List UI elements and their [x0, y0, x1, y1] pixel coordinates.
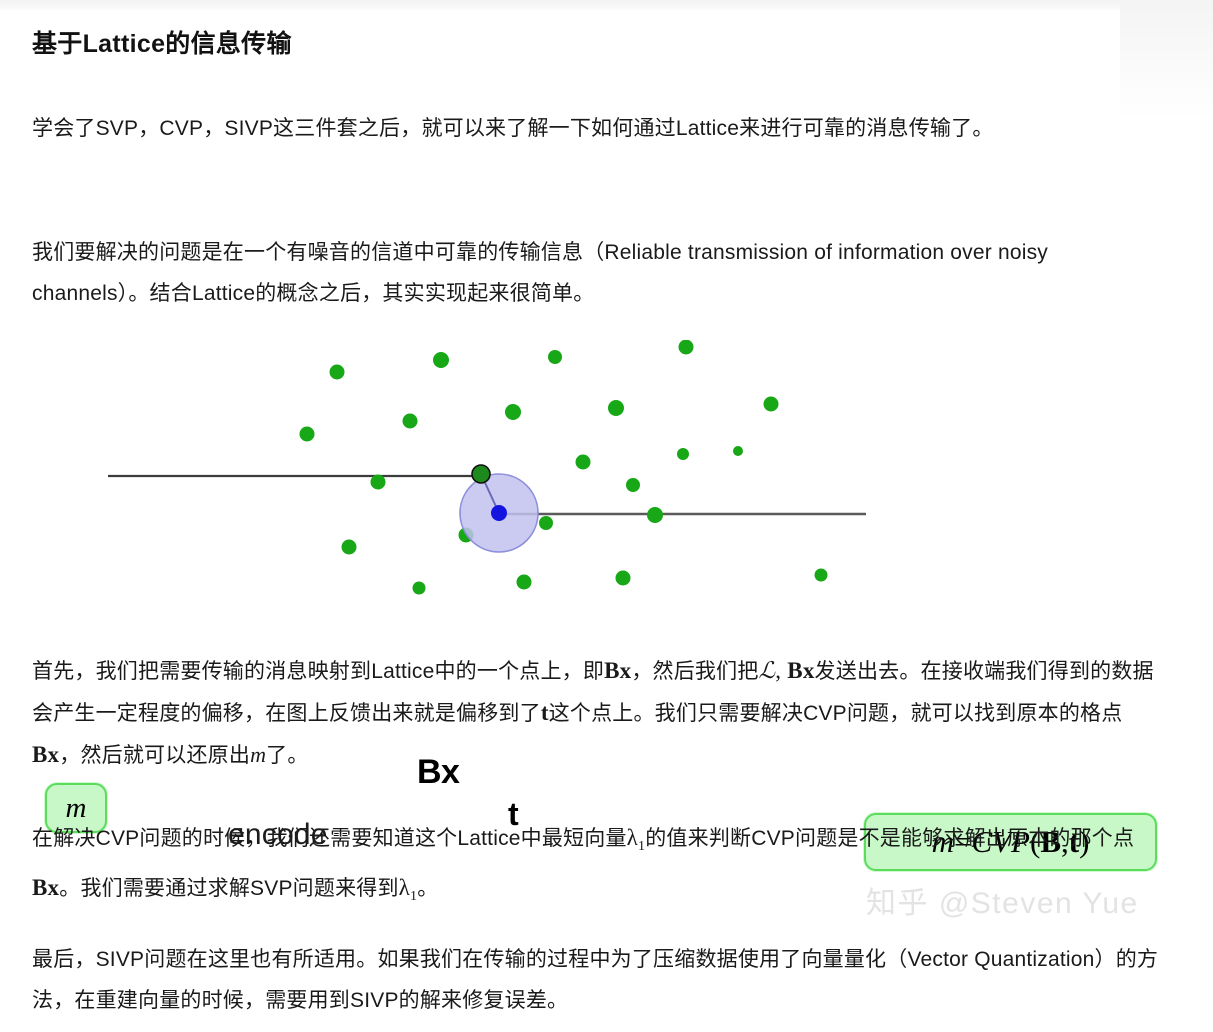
p3-seg-g: 了。 — [266, 744, 308, 767]
paragraph-sivp: 最后，SIVP问题在这里也有所适用。如果我们在传输的过程中为了压缩数据使用了向量… — [32, 939, 1162, 1021]
top-gray-band — [0, 0, 1213, 10]
paragraph-intro: 学会了SVP，CVP，SIVP这三件套之后，就可以来了解一下如何通过Lattic… — [32, 108, 1157, 149]
lattice-points-group — [300, 340, 828, 595]
p3-math-bx-2: Bx — [787, 658, 814, 683]
p4-seg-b: 的值来判断CVP问题是不是能够求解出原本的那个点 — [645, 827, 1134, 850]
p3-math-m: m — [250, 742, 266, 767]
p4-math-bx: Bx — [32, 875, 59, 900]
p3-seg-b: ，然后我们把 — [631, 660, 758, 683]
paragraph-problem: 我们要解决的问题是在一个有噪音的信道中可靠的传输信息（Reliable tran… — [32, 232, 1092, 314]
p3-math-bx-1: Bx — [604, 658, 631, 683]
p3-math-lattice-symbol: ℒ — [759, 658, 776, 683]
lattice-point-bx — [472, 465, 490, 483]
page-title: 基于Lattice的信息传输 — [32, 28, 1182, 62]
lattice-transmission-diagram: m m = CVP(B, t) Bx t encode 知乎 @Steven Y… — [0, 340, 1213, 625]
diagram-canvas — [0, 340, 1213, 625]
target-point-t — [491, 505, 507, 521]
p3-seg-f: ，然后就可以还原出 — [59, 744, 250, 767]
p4-math-lambda-1: λ — [627, 825, 638, 850]
p3-seg-a: 首先，我们把需要传输的消息映射到Lattice中的一个点上，即 — [32, 660, 604, 683]
article-page: 基于Lattice的信息传输 学会了SVP，CVP，SIVP这三件套之后，就可以… — [0, 10, 1213, 1032]
p4-seg-c: 。我们需要通过求解SVP问题来得到 — [59, 877, 398, 900]
p3-seg-e: 这个点上。我们只需要解决CVP问题，就可以找到原本的格点 — [549, 702, 1123, 725]
p3-math-bx-3: Bx — [32, 742, 59, 767]
paragraph-mapping: 首先，我们把需要传输的消息映射到Lattice中的一个点上，即Bx，然后我们把ℒ… — [32, 650, 1162, 776]
article-content: 基于Lattice的信息传输 — [32, 10, 1182, 62]
p3-math-t: t — [541, 700, 549, 725]
p4-seg-d: 。 — [417, 877, 438, 900]
p4-seg-a: 在解决CVP问题的时候，我们还需要知道这个Lattice中最短向量 — [32, 827, 627, 850]
p3-math-comma: , — [775, 658, 781, 683]
paragraph-svp: 在解决CVP问题的时候，我们还需要知道这个Lattice中最短向量λ1的值来判断… — [32, 817, 1162, 917]
p4-math-lambda-2: λ — [399, 875, 410, 900]
